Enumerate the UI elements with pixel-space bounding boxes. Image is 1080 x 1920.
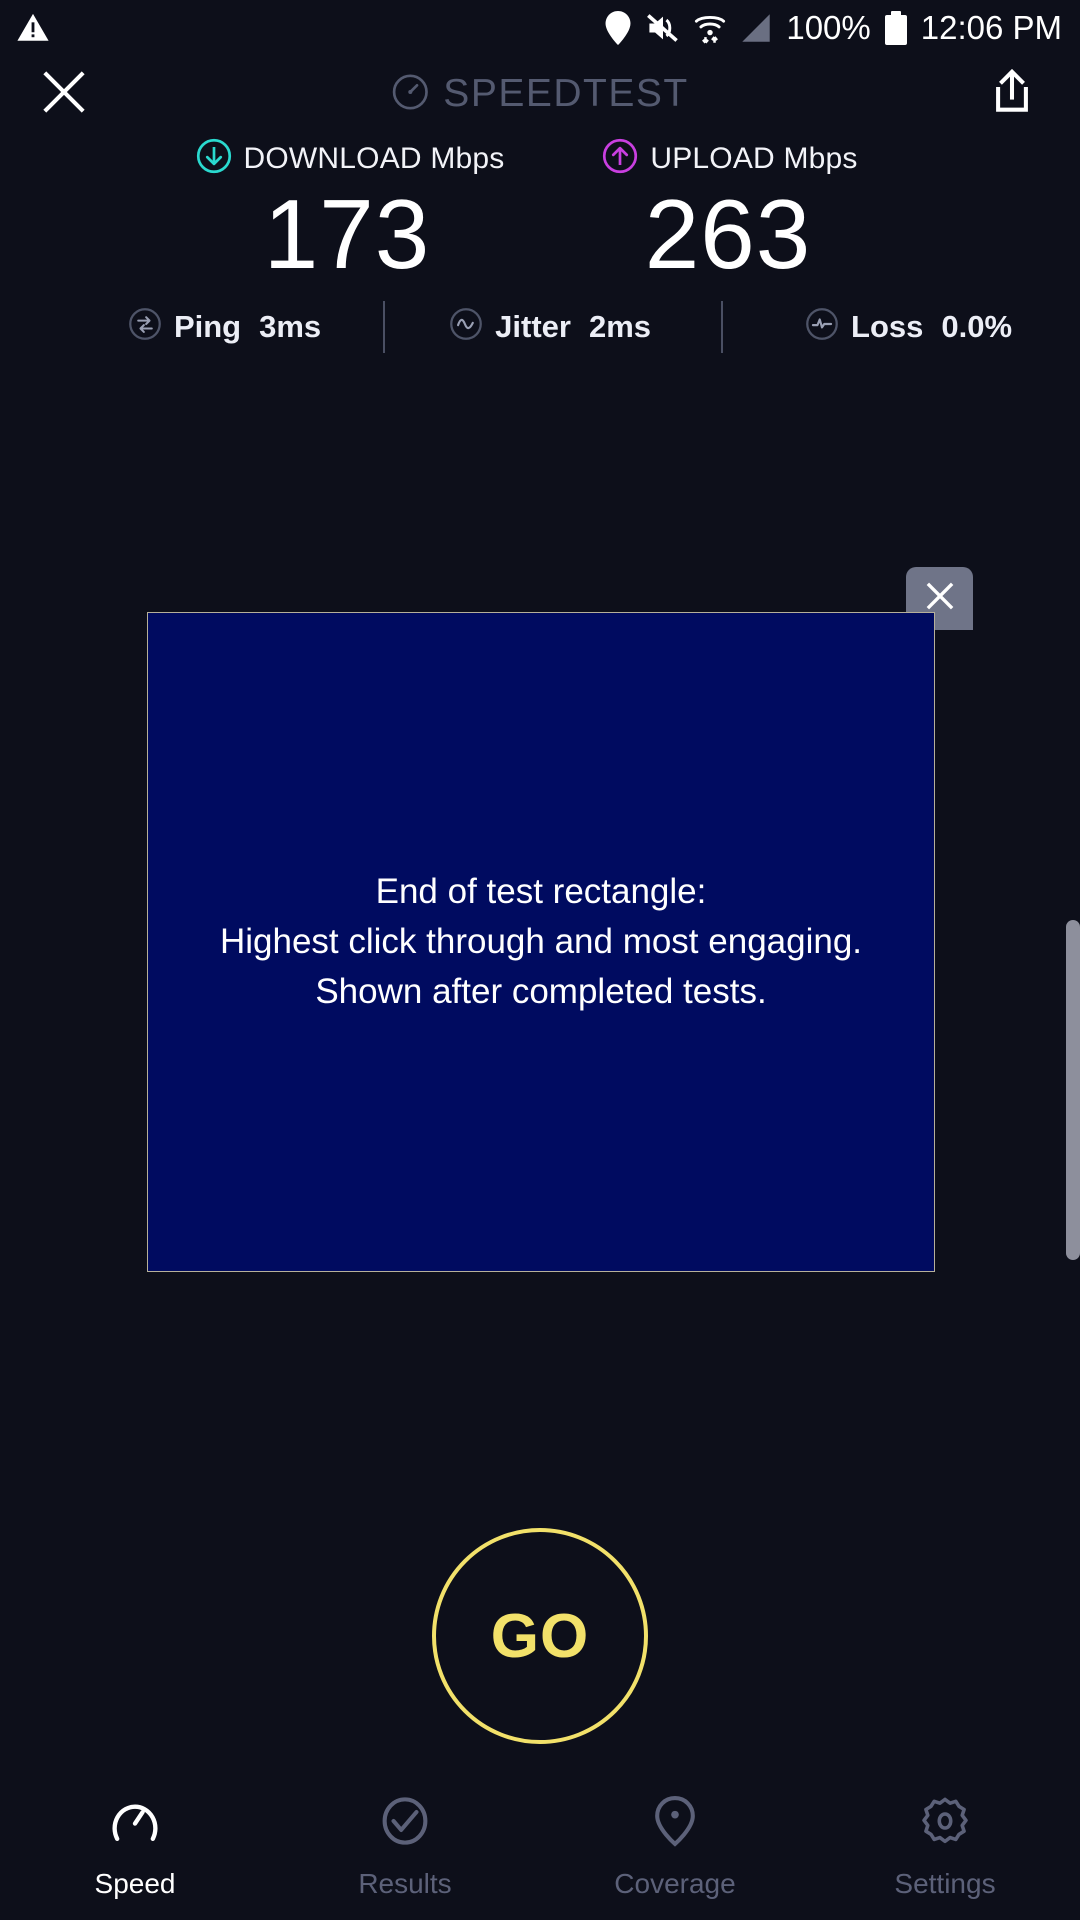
divider (721, 301, 723, 353)
upload-arrow-icon (602, 138, 638, 179)
status-bar-right: 100% 12:06 PM (604, 9, 1062, 47)
cellular-signal-icon (740, 13, 772, 43)
download-value: 173 (264, 185, 431, 285)
warning-triangle-icon (16, 11, 50, 45)
jitter-label: Jitter (495, 309, 571, 345)
speedometer-icon (107, 1793, 163, 1854)
jitter-metric: Jitter 2ms (449, 307, 651, 346)
divider (383, 301, 385, 353)
upload-header: UPLOAD Mbps (602, 138, 857, 179)
nav-item-settings[interactable]: Settings (810, 1793, 1080, 1900)
loss-label: Loss (851, 309, 923, 345)
nav-label-results: Results (358, 1868, 451, 1900)
download-metric: DOWNLOAD Mbps 173 (160, 138, 540, 285)
brand: SPEEDTEST (391, 72, 688, 116)
results-panel: DOWNLOAD Mbps 173 UPLOAD Mbps (0, 138, 1080, 353)
speedtest-app-screen: 100% 12:06 PM SPEEDTEST (0, 0, 1080, 1920)
nav-label-coverage: Coverage (614, 1868, 735, 1900)
check-circle-icon (377, 1793, 433, 1854)
ping-jitter-loss-row: Ping 3ms Jitter 2ms (0, 301, 1080, 353)
status-bar-left (16, 11, 50, 45)
download-label: DOWNLOAD Mbps (244, 142, 505, 176)
nav-item-results[interactable]: Results (270, 1793, 540, 1900)
nav-item-speed[interactable]: Speed (0, 1793, 270, 1900)
close-icon (40, 68, 88, 121)
upload-label: UPLOAD Mbps (650, 142, 857, 176)
brand-title: SPEEDTEST (443, 72, 688, 116)
location-pin-icon (604, 11, 632, 45)
download-header: DOWNLOAD Mbps (196, 138, 505, 179)
scrollbar-thumb[interactable] (1066, 920, 1080, 1260)
status-bar: 100% 12:06 PM (0, 0, 1080, 56)
ping-value: 3ms (259, 309, 321, 345)
go-button-label: GO (491, 1601, 589, 1672)
gear-icon (917, 1793, 973, 1854)
close-button[interactable] (34, 64, 94, 124)
loss-metric: Loss 0.0% (805, 307, 1012, 346)
share-icon (990, 68, 1034, 121)
ping-icon (128, 307, 162, 346)
go-button[interactable]: GO (432, 1528, 648, 1744)
bottom-navigation-bar: Speed Results Coverage (0, 1772, 1080, 1920)
upload-metric: UPLOAD Mbps 263 (540, 138, 920, 285)
battery-percent-label: 100% (786, 9, 870, 47)
clock-label: 12:06 PM (921, 9, 1062, 47)
nav-label-speed: Speed (95, 1868, 176, 1900)
loss-icon (805, 307, 839, 346)
nav-item-coverage[interactable]: Coverage (540, 1793, 810, 1900)
download-arrow-icon (196, 138, 232, 179)
jitter-icon (449, 307, 483, 346)
jitter-value: 2ms (589, 309, 651, 345)
advertisement-container: End of test rectangle: Highest click thr… (147, 612, 935, 1272)
advertisement-banner[interactable]: End of test rectangle: Highest click thr… (147, 612, 935, 1272)
ping-label: Ping (174, 309, 241, 345)
upload-value: 263 (645, 185, 812, 285)
loss-value: 0.0% (941, 309, 1012, 345)
volume-mute-icon (646, 13, 680, 43)
location-pin-icon (647, 1793, 703, 1854)
wifi-icon (694, 11, 726, 45)
download-upload-row: DOWNLOAD Mbps 173 UPLOAD Mbps (0, 138, 1080, 285)
app-bar: SPEEDTEST (0, 56, 1080, 132)
advertisement-text: End of test rectangle: Highest click thr… (220, 867, 862, 1016)
share-button[interactable] (982, 64, 1042, 124)
speedometer-icon (391, 73, 429, 116)
nav-label-settings: Settings (894, 1868, 995, 1900)
ping-metric: Ping 3ms (128, 307, 321, 346)
battery-full-icon (885, 11, 907, 45)
